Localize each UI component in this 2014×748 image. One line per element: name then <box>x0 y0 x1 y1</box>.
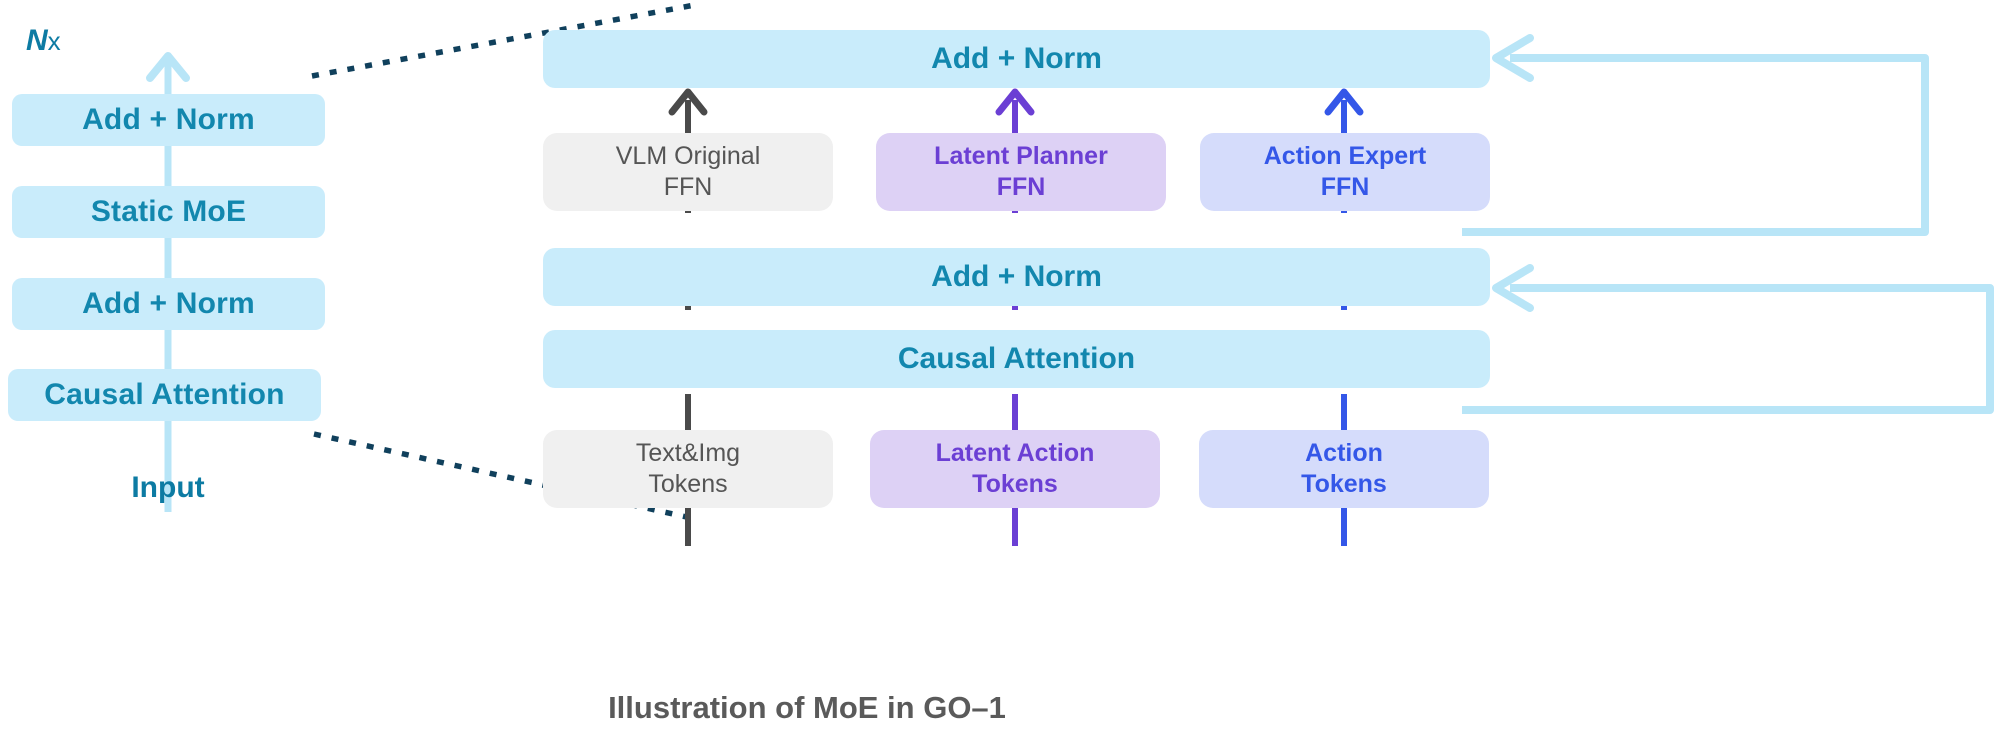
left-block-label: Add + Norm <box>82 287 255 321</box>
expert-label-line2: FFN <box>664 172 713 203</box>
residual-connection-upper <box>1462 38 1925 232</box>
token-latent-action[interactable]: Latent Action Tokens <box>870 430 1160 508</box>
expert-label-line1: Latent Planner <box>934 141 1108 172</box>
token-label-line2: Tokens <box>972 469 1058 500</box>
right-bar-label: Add + Norm <box>931 42 1102 76</box>
right-bar-add-norm-top[interactable]: Add + Norm <box>543 30 1490 88</box>
expert-label-line2: FFN <box>997 172 1046 203</box>
left-block-causal-attention[interactable]: Causal Attention <box>8 369 321 421</box>
expert-label-line1: Action Expert <box>1264 141 1427 172</box>
figure-caption-text: Illustration of MoE in GO–1 <box>608 690 1006 725</box>
repeat-count-variable: N <box>26 24 48 58</box>
right-bar-causal-attention[interactable]: Causal Attention <box>543 330 1490 388</box>
input-label-text: Input <box>131 471 204 505</box>
repeat-count-suffix: x <box>48 26 61 57</box>
left-block-add-norm-top[interactable]: Add + Norm <box>12 94 325 146</box>
expert-vlm-original-ffn[interactable]: VLM Original FFN <box>543 133 833 211</box>
figure-caption: Illustration of MoE in GO–1 <box>0 690 1814 726</box>
diagram-canvas: N x Add + Norm Static MoE Add + Norm Cau… <box>0 0 2014 748</box>
token-label-line2: Tokens <box>648 469 727 500</box>
left-block-label: Static MoE <box>91 195 246 229</box>
token-action[interactable]: Action Tokens <box>1199 430 1489 508</box>
input-label: Input <box>70 468 266 508</box>
expert-label-line2: FFN <box>1321 172 1370 203</box>
right-bar-label: Causal Attention <box>898 342 1135 376</box>
token-label-line1: Text&Img <box>636 438 740 469</box>
token-label-line2: Tokens <box>1301 469 1387 500</box>
repeat-count-label: N x <box>26 18 146 64</box>
expert-action-expert-ffn[interactable]: Action Expert FFN <box>1200 133 1490 211</box>
left-block-add-norm-bottom[interactable]: Add + Norm <box>12 278 325 330</box>
token-text-img[interactable]: Text&Img Tokens <box>543 430 833 508</box>
residual-connection-lower <box>1462 268 1990 410</box>
left-block-label: Add + Norm <box>82 103 255 137</box>
token-label-line1: Action <box>1305 438 1383 469</box>
right-bar-add-norm-mid[interactable]: Add + Norm <box>543 248 1490 306</box>
expert-label-line1: VLM Original <box>616 141 761 172</box>
left-block-static-moe[interactable]: Static MoE <box>12 186 325 238</box>
expert-latent-planner-ffn[interactable]: Latent Planner FFN <box>876 133 1166 211</box>
token-label-line1: Latent Action <box>936 438 1095 469</box>
right-bar-label: Add + Norm <box>931 260 1102 294</box>
left-block-label: Causal Attention <box>44 378 284 412</box>
